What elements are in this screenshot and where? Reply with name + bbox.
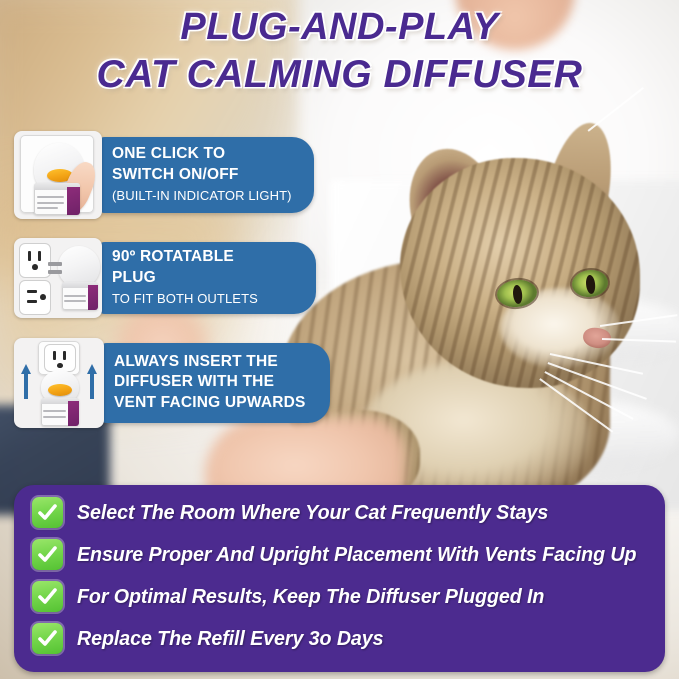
title-line-2: CAT CALMING DIFFUSER: [0, 55, 679, 94]
banner-rotatable-line2: PLUG: [112, 268, 304, 289]
checklist-text: Ensure Proper And Upright Placement With…: [77, 543, 636, 567]
checklist-item: Select The Room Where Your Cat Frequentl…: [32, 497, 651, 528]
feature-rotatable-plug: 90º ROTATABLE PLUG TO FIT BOTH OUTLETS: [14, 238, 316, 318]
thumbnail-one-click: [14, 131, 102, 219]
arrow-up-icon-right: [87, 364, 97, 400]
banner-vent-line2: DIFFUSER WITH THE: [114, 372, 318, 393]
thumbnail-vent-up: [14, 338, 104, 428]
banner-one-click-line1: ONE CLICK TO: [112, 144, 302, 165]
banner-vent-line1: ALWAYS INSERT THE: [114, 352, 318, 373]
checklist-text: For Optimal Results, Keep The Diffuser P…: [77, 585, 544, 609]
outlet-vertical-icon: [19, 243, 51, 278]
banner-vent-line3: VENT FACING UPWARDS: [114, 393, 318, 414]
checklist-item: Replace The Refill Every 3o Days: [32, 623, 651, 654]
outlet-horizontal-icon: [19, 280, 51, 315]
check-icon: [32, 581, 63, 612]
checklist-panel: Select The Room Where Your Cat Frequentl…: [14, 485, 665, 672]
check-icon: [32, 497, 63, 528]
diffuser-vent-icon: [48, 384, 72, 396]
checklist-item: For Optimal Results, Keep The Diffuser P…: [32, 581, 651, 612]
refill-bottle-icon: [62, 282, 98, 310]
title-block: PLUG-AND-PLAY CAT CALMING DIFFUSER: [0, 0, 679, 94]
banner-rotatable-line1: 90º ROTATABLE: [112, 247, 304, 268]
check-icon: [32, 623, 63, 654]
banner-one-click-line2: SWITCH ON/OFF: [112, 165, 302, 186]
feature-one-click: ONE CLICK TO SWITCH ON/OFF (BUILT-IN IND…: [14, 131, 314, 219]
banner-rotatable-sub: TO FIT BOTH OUTLETS: [112, 290, 304, 308]
banner-one-click: ONE CLICK TO SWITCH ON/OFF (BUILT-IN IND…: [96, 137, 314, 213]
refill-bottle-icon: [34, 183, 80, 215]
banner-vent-up: ALWAYS INSERT THE DIFFUSER WITH THE VENT…: [98, 343, 330, 423]
checklist-item: Ensure Proper And Upright Placement With…: [32, 539, 651, 570]
banner-one-click-sub: (BUILT-IN INDICATOR LIGHT): [112, 187, 302, 205]
feature-vent-up: ALWAYS INSERT THE DIFFUSER WITH THE VENT…: [14, 338, 330, 428]
banner-rotatable-plug: 90º ROTATABLE PLUG TO FIT BOTH OUTLETS: [96, 242, 316, 314]
thumbnail-rotatable-plug: [14, 238, 102, 318]
check-icon: [32, 539, 63, 570]
outlet-icon: [44, 344, 76, 372]
checklist-text: Replace The Refill Every 3o Days: [77, 627, 383, 651]
title-line-1: PLUG-AND-PLAY: [0, 8, 679, 46]
arrow-up-icon-left: [21, 364, 31, 400]
refill-bottle-icon: [41, 398, 79, 426]
checklist-text: Select The Room Where Your Cat Frequentl…: [77, 501, 548, 525]
infographic-canvas: PLUG-AND-PLAY CAT CALMING DIFFUSER ONE C…: [0, 0, 679, 679]
